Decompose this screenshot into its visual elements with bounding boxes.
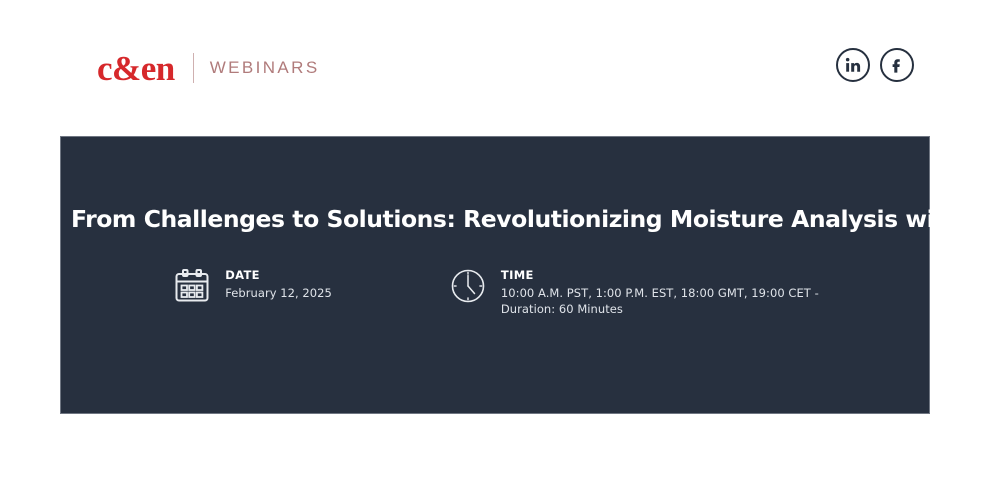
time-value: 10:00 A.M. PST, 1:00 P.M. EST, 18:00 GMT…: [501, 286, 819, 317]
date-label: DATE: [225, 268, 332, 283]
brand-divider: [193, 53, 194, 83]
meta-item-date: DATE February 12, 2025: [173, 265, 332, 317]
brand-subtitle: WEBINARS: [210, 58, 320, 78]
webinar-meta-row: DATE February 12, 2025: [61, 265, 931, 317]
social-links: [836, 48, 914, 82]
cen-logo: c&en: [97, 51, 175, 86]
page-title: From Challenges to Solutions: Revolution…: [71, 205, 921, 233]
calendar-icon: [173, 267, 211, 305]
time-label: TIME: [501, 268, 819, 283]
date-value: February 12, 2025: [225, 286, 332, 302]
webinar-hero-panel: From Challenges to Solutions: Revolution…: [60, 136, 930, 414]
page-header: c&en WEBINARS: [0, 0, 998, 128]
meta-text-date: DATE February 12, 2025: [225, 265, 332, 302]
facebook-icon[interactable]: [880, 48, 914, 82]
meta-text-time: TIME 10:00 A.M. PST, 1:00 P.M. EST, 18:0…: [501, 265, 819, 317]
webinar-landing-page: c&en WEBINARS From Challenges to Solutio…: [0, 0, 998, 502]
clock-icon: [449, 267, 487, 305]
meta-item-time: TIME 10:00 A.M. PST, 1:00 P.M. EST, 18:0…: [449, 265, 819, 317]
linkedin-icon[interactable]: [836, 48, 870, 82]
brand-lockup[interactable]: c&en WEBINARS: [97, 48, 320, 88]
